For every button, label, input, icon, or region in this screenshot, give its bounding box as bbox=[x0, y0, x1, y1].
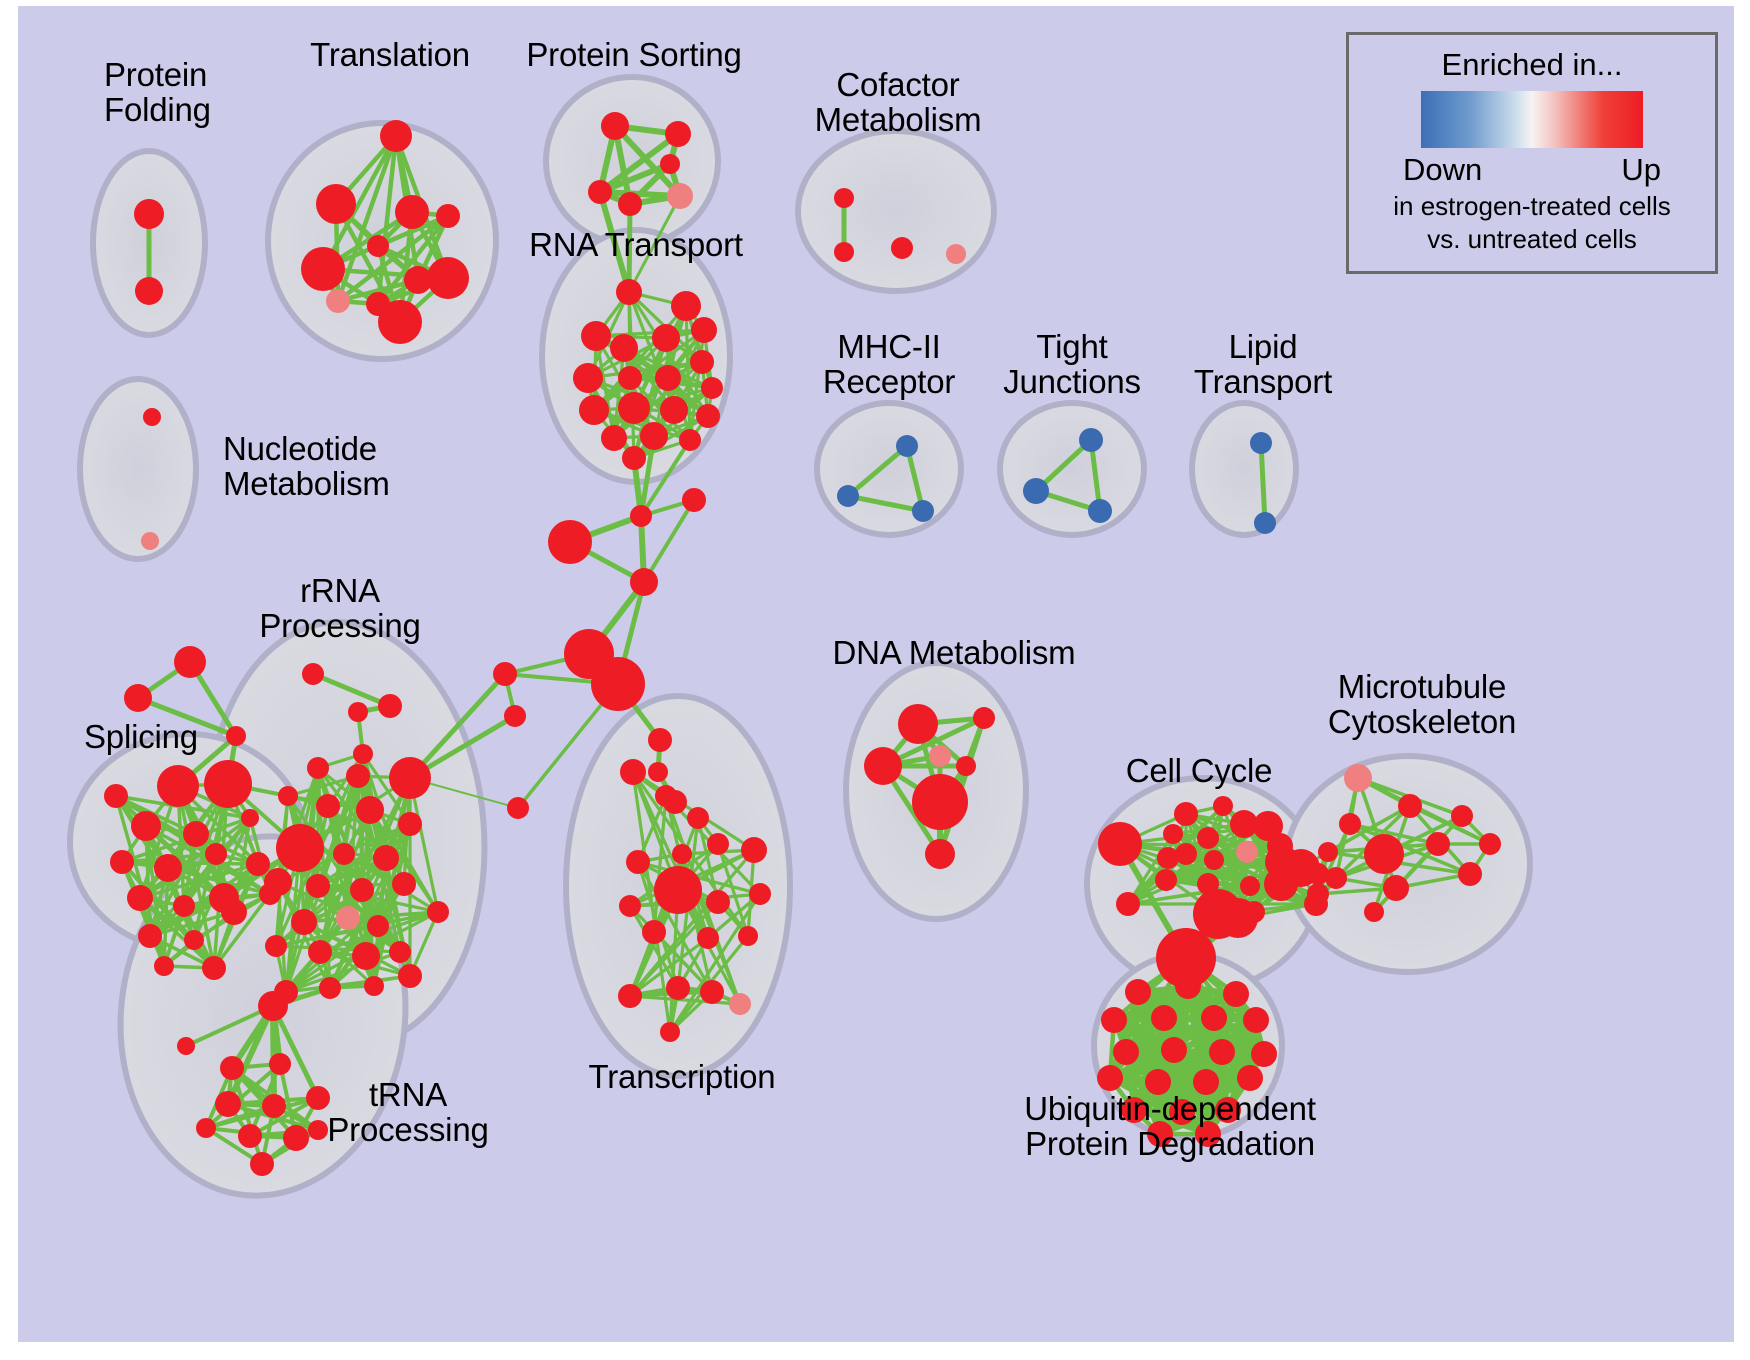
network-node[interactable] bbox=[655, 365, 681, 391]
network-node[interactable] bbox=[262, 1094, 286, 1118]
network-node[interactable] bbox=[619, 895, 641, 917]
network-node[interactable] bbox=[380, 120, 412, 152]
network-node[interactable] bbox=[652, 324, 680, 352]
network-node[interactable] bbox=[679, 429, 701, 451]
network-node[interactable] bbox=[1161, 1037, 1187, 1063]
network-node[interactable] bbox=[660, 1022, 680, 1042]
network-node[interactable] bbox=[352, 942, 380, 970]
network-node[interactable] bbox=[1218, 898, 1258, 938]
network-node[interactable] bbox=[626, 850, 650, 874]
network-node[interactable] bbox=[427, 257, 469, 299]
network-node[interactable] bbox=[1157, 847, 1179, 869]
legend-caption-line2: vs. untreated cells bbox=[1427, 225, 1637, 254]
network-node[interactable] bbox=[1116, 892, 1140, 916]
network-node[interactable] bbox=[138, 924, 162, 948]
network-node[interactable] bbox=[104, 784, 128, 808]
legend-low-label: Down bbox=[1403, 152, 1482, 188]
network-node[interactable] bbox=[143, 408, 161, 426]
network-node[interactable] bbox=[1209, 1039, 1235, 1065]
network-node[interactable] bbox=[250, 1152, 274, 1176]
network-node[interactable] bbox=[135, 277, 163, 305]
network-node[interactable] bbox=[696, 404, 720, 428]
network-node[interactable] bbox=[124, 684, 152, 712]
network-node[interactable] bbox=[1113, 1039, 1139, 1065]
network-node[interactable] bbox=[110, 850, 134, 874]
cluster-label-dna-metabolism: DNA Metabolism bbox=[833, 636, 1076, 671]
network-node[interactable] bbox=[591, 657, 645, 711]
network-node[interactable] bbox=[707, 833, 729, 855]
network-node[interactable] bbox=[378, 694, 402, 718]
cluster-label-rna-transport: RNA Transport bbox=[529, 228, 743, 263]
network-node[interactable] bbox=[620, 759, 646, 785]
network-node[interactable] bbox=[1223, 981, 1249, 1007]
cluster-label-rrna-processing: rRNA Processing bbox=[259, 574, 420, 644]
network-node[interactable] bbox=[131, 811, 161, 841]
network-node[interactable] bbox=[238, 1124, 262, 1148]
legend-box: Enriched in... Down Up in estrogen-treat… bbox=[1346, 32, 1718, 274]
network-node[interactable] bbox=[1079, 428, 1103, 452]
network-node[interactable] bbox=[1201, 1005, 1227, 1031]
cluster-label-transcription: Transcription bbox=[589, 1060, 776, 1095]
network-node[interactable] bbox=[834, 242, 854, 262]
hull-tight-junctions bbox=[1000, 403, 1144, 535]
network-node[interactable] bbox=[929, 745, 951, 767]
network-node[interactable] bbox=[1364, 834, 1404, 874]
network-node[interactable] bbox=[834, 188, 854, 208]
network-node[interactable] bbox=[579, 395, 609, 425]
network-node[interactable] bbox=[141, 532, 159, 550]
cluster-label-protein-sorting: Protein Sorting bbox=[526, 38, 741, 73]
network-node[interactable] bbox=[204, 760, 252, 808]
network-node[interactable] bbox=[226, 726, 246, 746]
network-node[interactable] bbox=[154, 956, 174, 976]
figure-root: Protein Folding Translation Protein Sort… bbox=[0, 0, 1750, 1360]
network-node[interactable] bbox=[610, 334, 638, 362]
network-node[interactable] bbox=[389, 941, 411, 963]
network-node[interactable] bbox=[395, 195, 429, 229]
hull-cofactor-metabolism bbox=[798, 131, 994, 291]
network-node[interactable] bbox=[741, 837, 767, 863]
network-node[interactable] bbox=[427, 901, 449, 923]
network-node[interactable] bbox=[269, 1053, 291, 1075]
network-node[interactable] bbox=[1174, 802, 1198, 826]
network-node[interactable] bbox=[837, 485, 859, 507]
network-node[interactable] bbox=[1307, 883, 1329, 905]
network-node[interactable] bbox=[1101, 1007, 1127, 1033]
network-node[interactable] bbox=[640, 422, 668, 450]
network-node[interactable] bbox=[1318, 842, 1338, 862]
cluster-label-cofactor-metabolism: Cofactor Metabolism bbox=[815, 68, 982, 138]
network-node[interactable] bbox=[241, 809, 259, 827]
network-node[interactable] bbox=[220, 1056, 244, 1080]
network-node[interactable] bbox=[660, 396, 688, 424]
network-node[interactable] bbox=[654, 866, 702, 914]
network-node[interactable] bbox=[1325, 867, 1347, 889]
network-node[interactable] bbox=[1364, 902, 1384, 922]
network-node[interactable] bbox=[504, 705, 526, 727]
network-node[interactable] bbox=[749, 883, 771, 905]
network-node[interactable] bbox=[864, 747, 902, 785]
network-node[interactable] bbox=[1250, 432, 1272, 454]
network-node[interactable] bbox=[291, 909, 317, 935]
network-node[interactable] bbox=[648, 762, 668, 782]
network-node[interactable] bbox=[316, 794, 340, 818]
network-node[interactable] bbox=[925, 839, 955, 869]
network-node[interactable] bbox=[507, 797, 529, 819]
network-node[interactable] bbox=[1458, 862, 1482, 886]
network-node[interactable] bbox=[697, 927, 719, 949]
network-node[interactable] bbox=[655, 785, 677, 807]
network-node[interactable] bbox=[1383, 875, 1409, 901]
network-node[interactable] bbox=[622, 446, 646, 470]
network-node[interactable] bbox=[1237, 1065, 1263, 1091]
network-node[interactable] bbox=[946, 244, 966, 264]
network-node[interactable] bbox=[912, 500, 934, 522]
network-node[interactable] bbox=[729, 993, 751, 1015]
network-node[interactable] bbox=[265, 935, 287, 957]
network-node[interactable] bbox=[174, 646, 206, 678]
network-node[interactable] bbox=[1264, 867, 1298, 901]
network-node[interactable] bbox=[350, 878, 374, 902]
hull-lipid-transport bbox=[1192, 403, 1296, 535]
network-node[interactable] bbox=[601, 112, 629, 140]
network-node[interactable] bbox=[308, 940, 332, 964]
legend-color-gradient bbox=[1421, 91, 1643, 148]
network-node[interactable] bbox=[660, 154, 680, 174]
network-node[interactable] bbox=[1098, 822, 1142, 866]
network-node[interactable] bbox=[183, 821, 209, 847]
network-canvas: Protein Folding Translation Protein Sort… bbox=[18, 6, 1734, 1342]
network-node[interactable] bbox=[1125, 979, 1151, 1005]
network-node[interactable] bbox=[648, 728, 672, 752]
network-node[interactable] bbox=[1204, 850, 1224, 870]
hull-mhc-ii-receptor bbox=[817, 403, 961, 535]
network-node[interactable] bbox=[246, 852, 270, 876]
network-node[interactable] bbox=[618, 392, 650, 424]
network-node[interactable] bbox=[581, 321, 611, 351]
network-node[interactable] bbox=[326, 289, 350, 313]
network-node[interactable] bbox=[1097, 1065, 1123, 1091]
network-node[interactable] bbox=[642, 920, 666, 944]
network-node[interactable] bbox=[336, 906, 360, 930]
network-node[interactable] bbox=[618, 366, 642, 390]
cluster-label-translation: Translation bbox=[310, 38, 470, 73]
network-node[interactable] bbox=[1251, 1041, 1277, 1067]
network-node[interactable] bbox=[348, 702, 368, 722]
network-node[interactable] bbox=[333, 843, 355, 865]
network-node[interactable] bbox=[276, 824, 324, 872]
network-node[interactable] bbox=[618, 984, 642, 1008]
network-node[interactable] bbox=[398, 812, 422, 836]
network-node[interactable] bbox=[196, 1118, 216, 1138]
network-node[interactable] bbox=[367, 235, 389, 257]
network-node[interactable] bbox=[1240, 876, 1260, 896]
network-node[interactable] bbox=[891, 237, 913, 259]
network-node[interactable] bbox=[700, 980, 724, 1004]
legend-high-label: Up bbox=[1621, 152, 1661, 188]
network-node[interactable] bbox=[258, 991, 288, 1021]
hull-nucleotide-metabolism bbox=[80, 379, 196, 559]
network-node[interactable] bbox=[1451, 805, 1473, 827]
network-node[interactable] bbox=[307, 757, 329, 779]
network-node[interactable] bbox=[896, 435, 918, 457]
network-node[interactable] bbox=[682, 488, 706, 512]
network-node[interactable] bbox=[701, 377, 723, 399]
network-node[interactable] bbox=[666, 976, 690, 1000]
network-node[interactable] bbox=[1155, 869, 1177, 891]
network-node[interactable] bbox=[1197, 827, 1219, 849]
network-node[interactable] bbox=[278, 786, 298, 806]
cluster-label-trna-processing: tRNA Processing bbox=[327, 1078, 488, 1148]
network-node[interactable] bbox=[264, 868, 292, 896]
network-node[interactable] bbox=[1243, 1007, 1269, 1033]
network-node[interactable] bbox=[157, 765, 199, 807]
network-node[interactable] bbox=[616, 279, 642, 305]
network-node[interactable] bbox=[302, 663, 324, 685]
network-node[interactable] bbox=[973, 707, 995, 729]
network-node[interactable] bbox=[1175, 973, 1201, 999]
cluster-label-microtubule-cytoskeleton: Microtubule Cytoskeleton bbox=[1328, 670, 1516, 740]
network-node[interactable] bbox=[367, 915, 389, 937]
network-node[interactable] bbox=[493, 662, 517, 686]
network-node[interactable] bbox=[956, 756, 976, 776]
network-node[interactable] bbox=[898, 704, 938, 744]
network-node[interactable] bbox=[672, 844, 692, 864]
network-node[interactable] bbox=[392, 872, 416, 896]
network-node[interactable] bbox=[706, 890, 730, 914]
legend-caption-line1: in estrogen-treated cells bbox=[1393, 192, 1670, 221]
network-node[interactable] bbox=[356, 796, 384, 824]
network-node[interactable] bbox=[1236, 841, 1258, 863]
network-node[interactable] bbox=[1398, 794, 1422, 818]
cluster-label-tight-junctions: Tight Junctions bbox=[1003, 330, 1141, 400]
network-node[interactable] bbox=[738, 926, 758, 946]
network-node[interactable] bbox=[1344, 764, 1372, 792]
network-node[interactable] bbox=[1213, 796, 1233, 816]
cluster-label-mhc-ii-receptor: MHC-II Receptor bbox=[823, 330, 955, 400]
network-node[interactable] bbox=[353, 744, 373, 764]
network-node[interactable] bbox=[184, 930, 204, 950]
network-node[interactable] bbox=[1023, 478, 1049, 504]
network-node[interactable] bbox=[283, 1125, 309, 1151]
network-node[interactable] bbox=[588, 180, 612, 204]
network-node[interactable] bbox=[1163, 824, 1183, 844]
network-node[interactable] bbox=[573, 363, 603, 393]
network-node[interactable] bbox=[301, 247, 345, 291]
network-node[interactable] bbox=[173, 895, 195, 917]
network-node[interactable] bbox=[436, 204, 460, 228]
network-node[interactable] bbox=[346, 764, 370, 788]
network-node[interactable] bbox=[177, 1037, 195, 1055]
network-node[interactable] bbox=[134, 199, 164, 229]
legend-title: Enriched in... bbox=[1442, 47, 1623, 83]
network-node[interactable] bbox=[671, 291, 701, 321]
network-node[interactable] bbox=[1426, 832, 1450, 856]
network-node[interactable] bbox=[364, 976, 384, 996]
cluster-label-splicing: Splicing bbox=[84, 720, 198, 755]
network-node[interactable] bbox=[1339, 813, 1361, 835]
network-node[interactable] bbox=[202, 956, 226, 980]
network-node[interactable] bbox=[601, 425, 627, 451]
network-node[interactable] bbox=[316, 184, 356, 224]
network-node[interactable] bbox=[221, 899, 247, 925]
cluster-label-nucleotide-metabolism: Nucleotide Metabolism bbox=[223, 432, 390, 502]
network-node[interactable] bbox=[690, 350, 714, 374]
network-node[interactable] bbox=[378, 300, 422, 344]
network-node[interactable] bbox=[691, 317, 717, 343]
network-node[interactable] bbox=[1479, 833, 1501, 855]
network-node[interactable] bbox=[1254, 512, 1276, 534]
network-node[interactable] bbox=[373, 845, 399, 871]
network-node[interactable] bbox=[630, 568, 658, 596]
network-node[interactable] bbox=[665, 121, 691, 147]
network-node[interactable] bbox=[154, 854, 182, 882]
cluster-label-lipid-transport: Lipid Transport bbox=[1194, 330, 1332, 400]
network-node[interactable] bbox=[306, 874, 330, 898]
cluster-label-protein-folding: Protein Folding bbox=[104, 58, 211, 128]
network-node[interactable] bbox=[215, 1091, 241, 1117]
network-node[interactable] bbox=[127, 885, 153, 911]
network-node[interactable] bbox=[398, 964, 422, 988]
network-node[interactable] bbox=[1088, 499, 1112, 523]
network-node[interactable] bbox=[912, 774, 968, 830]
cluster-label-cell-cycle: Cell Cycle bbox=[1126, 754, 1273, 789]
network-node[interactable] bbox=[389, 757, 431, 799]
network-node[interactable] bbox=[1151, 1005, 1177, 1031]
network-node[interactable] bbox=[618, 192, 642, 216]
network-node[interactable] bbox=[630, 505, 652, 527]
cluster-label-ubiquitin-degradation: Ubiquitin-dependent Protein Degradation bbox=[1024, 1092, 1316, 1162]
network-node[interactable] bbox=[548, 520, 592, 564]
network-node[interactable] bbox=[205, 843, 227, 865]
network-node[interactable] bbox=[319, 977, 341, 999]
network-node[interactable] bbox=[687, 807, 709, 829]
network-node[interactable] bbox=[667, 183, 693, 209]
network-node[interactable] bbox=[308, 1120, 328, 1140]
